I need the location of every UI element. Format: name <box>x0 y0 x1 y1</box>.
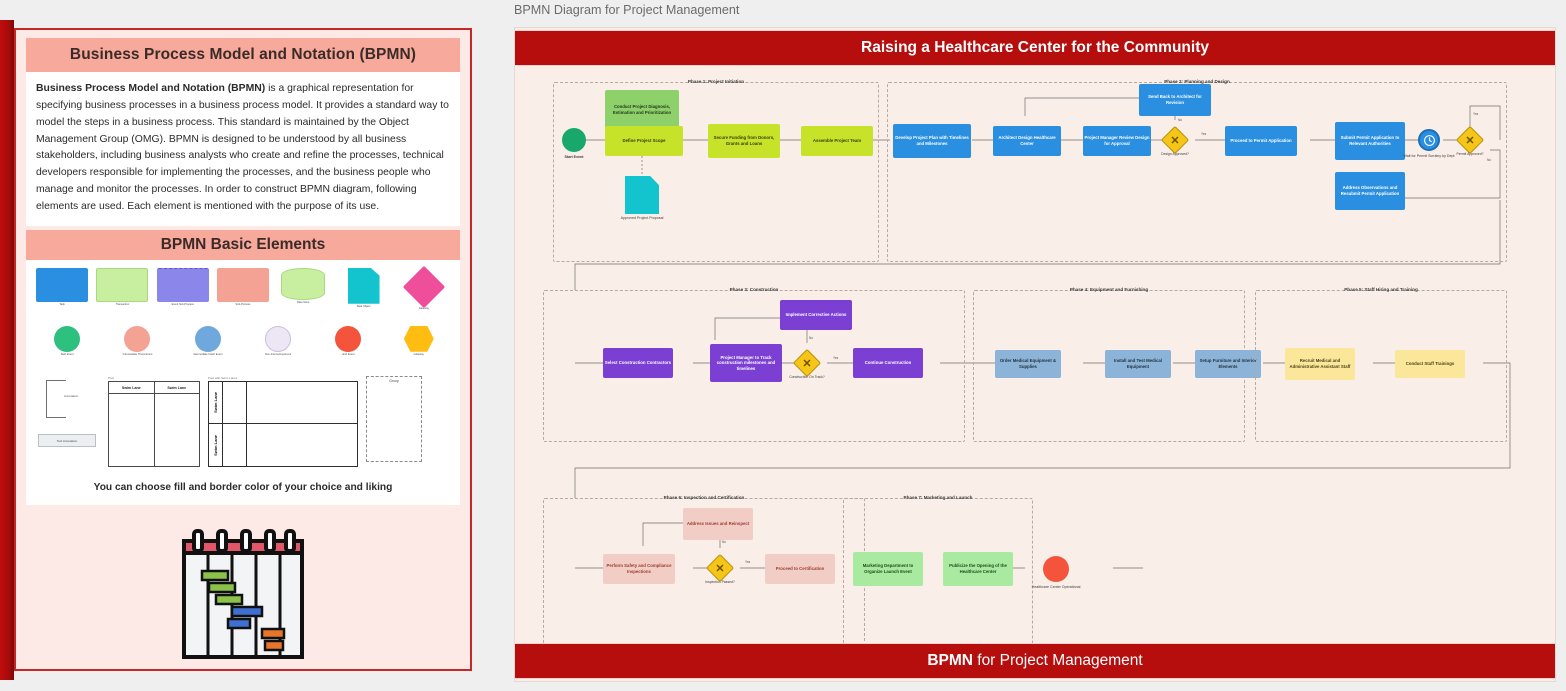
diagram-header: Raising a Healthcare Center for the Comm… <box>515 30 1555 66</box>
task-secure-funding[interactable]: Secure Funding from Donors, Grants and L… <box>708 124 780 158</box>
flow-label-yes: Yes <box>1201 132 1206 136</box>
event-subprocess-shape-icon <box>157 268 209 302</box>
task-label: Assemble Project Team <box>813 138 861 144</box>
task-proceed-permit[interactable]: Proceed to Permit Application <box>1225 126 1297 156</box>
task-recruit-staff[interactable]: Recruit Medical and Administrative Assis… <box>1285 348 1355 380</box>
element-gateway-diamond[interactable]: Gateway <box>395 268 453 310</box>
flow-label-no: No <box>809 336 813 340</box>
pool-vertical: Swim Lane Swim Lane <box>108 381 200 467</box>
pool-with-swimlanes-example[interactable]: Pool with Swim Lanes Swim Lane Swim Lane <box>208 376 358 467</box>
phase-4-title: Phase 4: Equipment and Furnishing <box>974 287 1244 292</box>
element-data-store[interactable]: Data Store <box>274 268 332 304</box>
task-track-construction[interactable]: Project Manager to Track construction mi… <box>710 344 782 382</box>
task-label: Implement Corrective Actions <box>786 312 847 318</box>
data-object-shape-icon <box>348 268 380 304</box>
element-label: Non-Interrupting Event <box>249 353 307 356</box>
annotation-bracket-icon <box>46 380 66 418</box>
clock-icon <box>1423 134 1436 147</box>
element-task[interactable]: Task <box>33 268 91 306</box>
task-label: Project Manager to Track construction mi… <box>711 355 781 372</box>
swimlane-header: Swim Lane <box>209 424 223 466</box>
element-event-subprocess[interactable]: Event Sub-Process <box>154 268 212 306</box>
panel-description-lead: Business Process Model and Notation (BPM… <box>36 83 265 94</box>
flow-label-no: No <box>1487 158 1491 162</box>
phase-6-title: Phase 6: Inspection and Certification <box>544 495 864 500</box>
task-label: Project Manager Review Design for Approv… <box>1084 135 1150 146</box>
end-event-label: Healthcare Center Operational <box>1021 585 1091 589</box>
task-label: Recruit Medical and Administrative Assis… <box>1286 358 1354 369</box>
swimlane-row: Swim Lane <box>209 382 357 425</box>
task-label: Marketing Department to Organize Launch … <box>854 563 922 574</box>
element-transaction[interactable]: Transaction <box>93 268 151 306</box>
gateway-construction-label: Construction On Track? <box>777 375 837 379</box>
pool-column: Swim Lane <box>155 382 200 466</box>
element-label: Transaction <box>93 303 151 306</box>
phase-3-title: Phase 3: Construction <box>544 287 964 292</box>
swimlane-body <box>247 382 357 424</box>
task-label: Develop Project Plan with Timelines and … <box>894 135 970 146</box>
task-define-project-scope[interactable]: Define Project Scope <box>605 126 683 156</box>
task-shape-icon <box>36 268 88 302</box>
gateway-hex-icon <box>404 326 434 352</box>
start-event-label: Start Event <box>539 155 609 159</box>
end-event-icon <box>335 326 361 352</box>
element-label: Sub-Process <box>214 303 272 306</box>
task-conduct-trainings[interactable]: Conduct Staff Trainings <box>1395 350 1465 378</box>
app-root: Business Process Model and Notation (BPM… <box>0 0 1566 691</box>
diagram-canvas[interactable]: Phase 1: Project Initiation Start Event … <box>515 68 1557 646</box>
elements-row-shapes: Task Transaction Event Sub-Process Sub-P… <box>32 268 454 320</box>
element-label: Data Store <box>274 301 332 304</box>
element-end-event[interactable]: End Event <box>319 326 377 356</box>
element-label: Event Sub-Process <box>154 303 212 306</box>
gateway-x-icon: ✕ <box>797 353 817 373</box>
transaction-shape-icon <box>96 268 148 302</box>
element-label: Intermediate Throw Event <box>108 353 166 356</box>
task-safety-inspections[interactable]: Perform Safety and Compliance Inspection… <box>603 554 675 584</box>
task-proceed-certification[interactable]: Proceed to Certification <box>765 554 835 584</box>
task-continue-construction[interactable]: Continue Construction <box>853 348 923 378</box>
task-send-back-revision[interactable]: Send Back to Architect for Revision <box>1139 84 1211 116</box>
element-label: Intermediate Catch Event <box>179 353 237 356</box>
annotation-example[interactable]: Annotation Text Annotation <box>38 376 100 447</box>
panel-title-abbr: (BPMN) <box>360 46 417 63</box>
task-assemble-team[interactable]: Assemble Project Team <box>801 126 873 156</box>
task-corrective-actions[interactable]: Implement Corrective Actions <box>780 300 852 330</box>
task-label: Conduct Staff Trainings <box>1406 361 1454 367</box>
task-label: Perform Safety and Compliance Inspection… <box>604 563 674 574</box>
swimlane-label: Swim Lane <box>213 435 218 456</box>
task-label: Publicize the Opening of the Healthcare … <box>944 563 1012 574</box>
swimlane-label: Swim Lane <box>213 392 218 413</box>
task-label: Select Construction Contractors <box>605 360 671 366</box>
timer-intermediate-event[interactable] <box>1418 129 1440 151</box>
element-label: Gateway <box>390 353 448 356</box>
panel-title-main: Business Process Model and Notation <box>70 46 355 63</box>
task-select-contractors[interactable]: Select Construction Contractors <box>603 348 673 378</box>
task-publicize-opening[interactable]: Publicize the Opening of the Healthcare … <box>943 552 1013 586</box>
panel-description: Business Process Model and Notation (BPM… <box>26 72 460 226</box>
flow-label-no: No <box>722 540 726 544</box>
gateway-x-icon: ✕ <box>1460 130 1480 150</box>
start-event-icon <box>54 326 80 352</box>
intermediate-throw-event-icon <box>124 326 150 352</box>
gateway-design-approved-label: Design Approved? <box>1145 152 1205 156</box>
flow-label-yes: Yes <box>1473 112 1478 116</box>
annotation-label: Annotation <box>64 394 100 398</box>
text-annotation-box: Text Annotation <box>38 434 96 447</box>
diagram-footer: BPMN for Project Management <box>515 643 1555 679</box>
element-gateway-hex[interactable]: Gateway <box>390 326 448 356</box>
swimlane-subcolumn <box>223 424 247 466</box>
flow-label-yes: Yes <box>745 560 750 564</box>
swimlane-subcolumn <box>223 382 247 424</box>
task-label: Address Observations and Resubmit Permit… <box>1336 185 1404 196</box>
end-event[interactable] <box>1043 556 1069 582</box>
task-label: Address Issues and Reinspect <box>687 521 749 527</box>
element-subprocess[interactable]: Sub-Process <box>214 268 272 306</box>
data-object-approved-proposal[interactable] <box>625 176 659 214</box>
element-label: Task <box>33 303 91 306</box>
swimlane-row: Swim Lane <box>209 424 357 466</box>
element-data-object[interactable]: Data Object <box>335 268 393 308</box>
pool-example[interactable]: Pool Swim Lane Swim Lane <box>108 376 200 467</box>
flow-label-yes: Yes <box>833 356 838 360</box>
intermediate-catch-event-icon <box>195 326 221 352</box>
phase-1-container: Phase 1: Project Initiation <box>553 82 879 262</box>
task-label: Architect Design Healthcare Center <box>994 135 1060 146</box>
pool-lane-header: Swim Lane <box>109 382 154 394</box>
start-event[interactable] <box>562 128 586 152</box>
bpmn-elements-gallery: Task Transaction Event Sub-Process Sub-P… <box>26 260 460 505</box>
group-label: Group <box>367 379 421 383</box>
task-label: Define Project Scope <box>623 138 666 144</box>
swimlane-examples: Annotation Text Annotation Pool Swim Lan… <box>32 370 454 478</box>
data-store-shape-icon <box>281 268 325 300</box>
pool-caption: Pool <box>108 376 200 380</box>
pool-horizontal: Swim Lane Swim Lane <box>208 381 358 467</box>
panel-subtitle: BPMN Basic Elements <box>26 230 460 260</box>
group-box: Group <box>366 376 422 462</box>
panel-spine <box>0 20 14 680</box>
task-label: Install and Test Medical Equipment <box>1106 358 1170 369</box>
task-label: Submit Permit Application to Relevant Au… <box>1336 135 1404 146</box>
bpmn-diagram: Raising a Healthcare Center for the Comm… <box>514 27 1556 682</box>
task-marketing-launch[interactable]: Marketing Department to Organize Launch … <box>853 552 923 586</box>
phase-5-title: Phase 5: Staff Hiring and Training <box>1256 287 1506 292</box>
gateway-permit-approved-label: Permit Approved? <box>1440 152 1500 156</box>
task-label: Proceed to Permit Application <box>1230 138 1291 144</box>
phase-7-title: Phase 7: Marketing and Launch <box>844 495 1032 500</box>
panel-title: Business Process Model and Notation (BPM… <box>26 38 460 72</box>
swimlane-header: Swim Lane <box>209 382 223 424</box>
task-project-diagnosis[interactable]: Conduct Project Diagnosis, Estimation an… <box>605 90 679 130</box>
subprocess-shape-icon <box>217 268 269 302</box>
gateway-inspection-label: Inspection Passed? <box>690 580 750 584</box>
diagram-footer-bold: BPMN <box>927 652 973 669</box>
task-label: Conduct Project Diagnosis, Estimation an… <box>606 104 678 115</box>
task-label: Order Medical Equipment & Supplies <box>996 358 1060 369</box>
pool-column: Swim Lane <box>109 382 155 466</box>
noninterrupting-event-icon <box>265 326 291 352</box>
group-example[interactable]: Group <box>366 376 422 462</box>
element-label: End Event <box>319 353 377 356</box>
task-address-observations[interactable]: Address Observations and Resubmit Permit… <box>1335 172 1405 210</box>
task-install-equipment[interactable]: Install and Test Medical Equipment <box>1105 350 1171 378</box>
elements-row-events: Start Event Intermediate Throw Event Int… <box>32 326 454 370</box>
pool-swimlane-caption: Pool with Swim Lanes <box>208 376 358 380</box>
task-review-design[interactable]: Project Manager Review Design for Approv… <box>1083 126 1151 156</box>
task-order-equipment[interactable]: Order Medical Equipment & Supplies <box>995 350 1061 378</box>
gateway-x-icon: ✕ <box>1165 130 1185 150</box>
task-label: Send Back to Architect for Revision <box>1140 94 1210 105</box>
task-label: Setup Furniture and Interior Elements <box>1196 358 1260 369</box>
task-label: Proceed to Certification <box>776 566 824 572</box>
diagram-footer-rest: for Project Management <box>973 652 1143 669</box>
gantt-calendar-illustration <box>26 529 460 674</box>
element-start-event[interactable]: Start Event <box>38 326 96 356</box>
phase-1-title: Phase 1: Project Initiation <box>554 79 878 84</box>
element-label: Data Object <box>335 305 393 308</box>
bpmn-info-panel: Business Process Model and Notation (BPM… <box>14 28 472 671</box>
element-label: Start Event <box>38 353 96 356</box>
flow-label-no: No <box>1178 118 1182 122</box>
data-object-label: Approved Project Proposal <box>607 216 677 220</box>
swimlane-body <box>247 424 357 466</box>
element-intermediate-catch-event[interactable]: Intermediate Catch Event <box>179 326 237 356</box>
element-intermediate-throw-event[interactable]: Intermediate Throw Event <box>108 326 166 356</box>
gateway-x-icon: ✕ <box>710 558 730 578</box>
pool-lane-header: Swim Lane <box>155 382 200 394</box>
task-develop-project-plan[interactable]: Develop Project Plan with Timelines and … <box>893 124 971 158</box>
task-label: Continue Construction <box>865 360 912 366</box>
task-architect-design[interactable]: Architect Design Healthcare Center <box>993 126 1061 156</box>
task-setup-furniture[interactable]: Setup Furniture and Interior Elements <box>1195 350 1261 378</box>
task-label: Secure Funding from Donors, Grants and L… <box>709 135 779 146</box>
breadcrumb: BPMN Diagram for Project Management <box>514 3 739 17</box>
task-address-issues[interactable]: Address Issues and Reinspect <box>683 508 753 540</box>
element-noninterrupting-event[interactable]: Non-Interrupting Event <box>249 326 307 356</box>
panel-description-rest: is a graphical representation for specif… <box>36 83 449 212</box>
gantt-calendar-icon <box>172 529 314 669</box>
gateway-diamond-shape-icon <box>403 266 445 308</box>
panel-note: You can choose fill and border color of … <box>32 478 454 501</box>
